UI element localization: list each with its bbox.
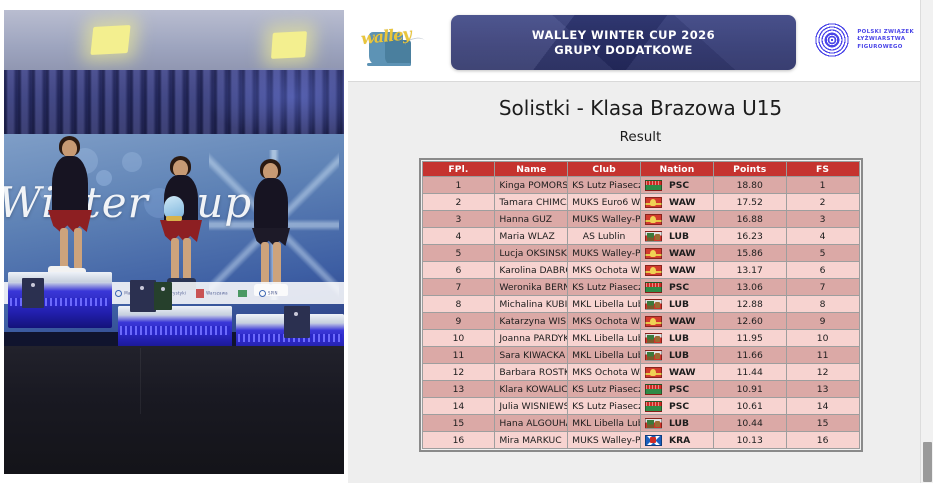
nation-code: LUB — [669, 333, 689, 344]
cell-fs: 3 — [786, 211, 859, 228]
cell-points: 11.44 — [713, 364, 786, 381]
cell-fs: 15 — [786, 415, 859, 432]
nation-code: WAW — [669, 197, 696, 208]
cell-fpl: 10 — [422, 330, 495, 347]
cell-fpl: 13 — [422, 381, 495, 398]
podium-photo: Winter Cup — [4, 10, 344, 474]
cell-club: MUKS Walley-Plus Duo Kraków — [568, 432, 641, 449]
table-row[interactable]: 14Julia WISNIEWSKAKS Lutz PiasecznoPSC10… — [422, 398, 859, 415]
flag-icon-lub — [645, 333, 662, 344]
cell-fpl: 11 — [422, 347, 495, 364]
cell-points: 13.06 — [713, 279, 786, 296]
cell-nation: WAW — [640, 364, 713, 381]
cell-name: Barbara ROSTKOWSKA — [495, 364, 568, 381]
result-subtitle: Result — [348, 129, 933, 145]
cell-nation: LUB — [640, 296, 713, 313]
cell-nation: LUB — [640, 330, 713, 347]
cell-club: MKL Libella Lublin — [568, 330, 641, 347]
cell-fpl: 15 — [422, 415, 495, 432]
cell-fs: 14 — [786, 398, 859, 415]
table-row[interactable]: 1Kinga POMORSKAKS Lutz PiasecznoPSC18.80… — [422, 177, 859, 194]
cell-name: Michalina KUBIC — [495, 296, 568, 313]
results-table-body: 1Kinga POMORSKAKS Lutz PiasecznoPSC18.80… — [422, 177, 859, 449]
podium-photo-panel: Winter Cup — [0, 0, 348, 483]
nation-code: PSC — [669, 401, 689, 412]
table-row[interactable]: 5Lucja OKSINSKAMUKS Walley-Plus Duo Wars… — [422, 245, 859, 262]
nation-cell: WAW — [645, 248, 709, 259]
table-row[interactable]: 8Michalina KUBICMKL Libella LublinLUB12.… — [422, 296, 859, 313]
flag-icon-psc — [645, 384, 662, 395]
cell-fpl: 1 — [422, 177, 495, 194]
cell-club: MKL Libella Lublin — [568, 296, 641, 313]
column-header-fs[interactable]: FS — [786, 162, 859, 177]
cell-points: 11.95 — [713, 330, 786, 347]
federation-logo-text: POLSKI ZWIĄZEK ŁYŻWIARSTWA FIGUROWEGO — [857, 29, 914, 52]
event-title-banner: WALLEY WINTER CUP 2026 GRUPY DODATKOWE — [451, 15, 796, 70]
cell-fpl: 5 — [422, 245, 495, 262]
scrollbar-thumb[interactable] — [923, 442, 932, 482]
nation-cell: PSC — [645, 384, 709, 395]
cell-fs: 9 — [786, 313, 859, 330]
cell-fs: 8 — [786, 296, 859, 313]
flag-icon-waw — [645, 265, 662, 276]
nation-cell: LUB — [645, 418, 709, 429]
nation-cell: WAW — [645, 214, 709, 225]
table-row[interactable]: 10Joanna PARDYKAMKL Libella LublinLUB11.… — [422, 330, 859, 347]
flag-icon-waw — [645, 214, 662, 225]
cell-fpl: 6 — [422, 262, 495, 279]
cell-club: MKL Libella Lublin — [568, 347, 641, 364]
cell-name: Lucja OKSINSKA — [495, 245, 568, 262]
nation-code: LUB — [669, 231, 689, 242]
nation-code: WAW — [669, 265, 696, 276]
cell-points: 10.13 — [713, 432, 786, 449]
cell-name: Klara KOWALICKA — [495, 381, 568, 398]
cell-nation: WAW — [640, 245, 713, 262]
gift-bag — [154, 282, 172, 310]
sponsor-logo-spin: SPIN — [259, 290, 278, 297]
nation-code: WAW — [669, 248, 696, 259]
cell-points: 16.88 — [713, 211, 786, 228]
cell-points: 16.23 — [713, 228, 786, 245]
cell-name: Mira MARKUC — [495, 432, 568, 449]
cell-fs: 4 — [786, 228, 859, 245]
nation-cell: LUB — [645, 333, 709, 344]
cell-nation: WAW — [640, 313, 713, 330]
federation-line-2: ŁYŻWIARSTWA — [857, 36, 914, 44]
nation-cell: LUB — [645, 299, 709, 310]
nation-cell: LUB — [645, 350, 709, 361]
nation-cell: WAW — [645, 316, 709, 327]
cell-name: Joanna PARDYKA — [495, 330, 568, 347]
app-root: Winter Cup — [0, 0, 933, 483]
cell-points: 10.91 — [713, 381, 786, 398]
column-header-club[interactable]: Club — [568, 162, 641, 177]
table-row[interactable]: 16Mira MARKUCMUKS Walley-Plus Duo Kraków… — [422, 432, 859, 449]
cell-nation: WAW — [640, 211, 713, 228]
cell-nation: PSC — [640, 381, 713, 398]
cell-fs: 7 — [786, 279, 859, 296]
cell-club: MKS Ochota Warszawa — [568, 364, 641, 381]
cell-club: MUKS Walley-Plus Duo Warszawa — [568, 211, 641, 228]
cell-club: KS Lutz Piaseczno — [568, 177, 641, 194]
flag-icon-waw — [645, 367, 662, 378]
cell-fpl: 4 — [422, 228, 495, 245]
page-scrollbar[interactable] — [920, 0, 933, 483]
table-row[interactable]: 6Karolina DABROWSKAMKS Ochota WarszawaWA… — [422, 262, 859, 279]
fingerprint-icon — [814, 22, 850, 58]
cell-club: MUKS Euro6 Warszawa — [568, 194, 641, 211]
cell-points: 12.60 — [713, 313, 786, 330]
flag-icon-lub — [645, 231, 662, 242]
cell-club: MKS Ochota Warszawa — [568, 262, 641, 279]
cell-club: MUKS Walley-Plus Duo Warszawa — [568, 245, 641, 262]
floor-seam — [140, 348, 141, 414]
column-header-points[interactable]: Points — [713, 162, 786, 177]
curtain-highlight — [204, 68, 344, 140]
cell-name: Sara KIWACKA — [495, 347, 568, 364]
nation-code: LUB — [669, 299, 689, 310]
cell-name: Karolina DABROWSKA — [495, 262, 568, 279]
cell-fpl: 12 — [422, 364, 495, 381]
cell-fpl: 14 — [422, 398, 495, 415]
cell-points: 11.66 — [713, 347, 786, 364]
backdrop-bokeh — [122, 152, 142, 172]
table-row[interactable]: 4Maria WLAZAS LublinLUB16.234 — [422, 228, 859, 245]
column-header-fpl[interactable]: FPl. — [422, 162, 495, 177]
table-row[interactable]: 11Sara KIWACKAMKL Libella LublinLUB11.66… — [422, 347, 859, 364]
skate-blade-icon — [367, 63, 411, 66]
table-row[interactable]: 7Weronika BERNACIAKKS Lutz PiasecznoPSC1… — [422, 279, 859, 296]
cell-points: 15.86 — [713, 245, 786, 262]
gift-bag — [22, 278, 44, 308]
table-header-row: FPl. Name Club Nation Points FS — [422, 162, 859, 177]
nation-code: PSC — [669, 282, 689, 293]
ceiling-lamp-right — [271, 31, 307, 59]
cell-name: Katarzyna WISNIEWSKA — [495, 313, 568, 330]
nation-code: LUB — [669, 350, 689, 361]
cell-name: Weronika BERNACIAK — [495, 279, 568, 296]
cell-nation: LUB — [640, 415, 713, 432]
flag-icon-waw — [645, 316, 662, 327]
gift-bag — [284, 306, 310, 338]
cell-fs: 11 — [786, 347, 859, 364]
page-header: walley WALLEY WINTER CUP 2026 GRUPY DODA… — [348, 0, 933, 82]
cell-nation: WAW — [640, 194, 713, 211]
cell-nation: LUB — [640, 347, 713, 364]
cell-points: 10.61 — [713, 398, 786, 415]
results-body: Solistki - Klasa Brazowa U15 Result FPl.… — [348, 82, 933, 483]
flag-icon-lub — [645, 350, 662, 361]
nation-cell: WAW — [645, 265, 709, 276]
cell-fs: 6 — [786, 262, 859, 279]
results-content: walley WALLEY WINTER CUP 2026 GRUPY DODA… — [348, 0, 933, 483]
federation-logo[interactable]: POLSKI ZWIĄZEK ŁYŻWIARSTWA FIGUROWEGO — [814, 22, 914, 58]
cell-fs: 10 — [786, 330, 859, 347]
nation-cell: LUB — [645, 231, 709, 242]
cell-name: Julia WISNIEWSKA — [495, 398, 568, 415]
table-row[interactable]: 2Tamara CHIMCZUKMUKS Euro6 WarszawaWAW17… — [422, 194, 859, 211]
cell-points: 13.17 — [713, 262, 786, 279]
sponsor-logo-green — [238, 290, 249, 297]
table-row[interactable]: 9Katarzyna WISNIEWSKAMKS Ochota Warszawa… — [422, 313, 859, 330]
nation-code: PSC — [669, 384, 689, 395]
nation-code: LUB — [669, 418, 689, 429]
cell-fs: 13 — [786, 381, 859, 398]
podium-led-center — [120, 326, 230, 335]
cell-fpl: 3 — [422, 211, 495, 228]
cell-club: KS Lutz Piaseczno — [568, 398, 641, 415]
table-row[interactable]: 15Hana ALGOUHARIMKL Libella LublinLUB10.… — [422, 415, 859, 432]
gift-bag — [130, 280, 156, 312]
nation-cell: KRA — [645, 435, 709, 446]
cell-fs: 12 — [786, 364, 859, 381]
cell-club: AS Lublin — [568, 228, 641, 245]
cell-points: 12.88 — [713, 296, 786, 313]
table-row[interactable]: 3Hanna GUZMUKS Walley-Plus Duo WarszawaW… — [422, 211, 859, 228]
event-title-line-1: WALLEY WINTER CUP 2026 — [532, 28, 715, 43]
table-row[interactable]: 12Barbara ROSTKOWSKAMKS Ochota WarszawaW… — [422, 364, 859, 381]
cell-fpl: 2 — [422, 194, 495, 211]
backdrop-wordmark: Winter Cup — [4, 178, 252, 227]
cell-name: Tamara CHIMCZUK — [495, 194, 568, 211]
flag-icon-lub — [645, 418, 662, 429]
cell-points: 18.80 — [713, 177, 786, 194]
arena-floor — [4, 346, 344, 474]
results-table-head: FPl. Name Club Nation Points FS — [422, 162, 859, 177]
nation-cell: WAW — [645, 197, 709, 208]
nation-cell: WAW — [645, 367, 709, 378]
event-title-line-2: GRUPY DODATKOWE — [554, 43, 693, 58]
column-header-nation[interactable]: Nation — [640, 162, 713, 177]
table-row[interactable]: 13Klara KOWALICKAKS Lutz PiasecznoPSC10.… — [422, 381, 859, 398]
cell-name: Kinga POMORSKA — [495, 177, 568, 194]
cell-name: Maria WLAZ — [495, 228, 568, 245]
cell-points: 10.44 — [713, 415, 786, 432]
cell-fs: 1 — [786, 177, 859, 194]
flag-icon-psc — [645, 180, 662, 191]
nation-code: WAW — [669, 214, 696, 225]
nation-code: WAW — [669, 316, 696, 327]
cell-fs: 5 — [786, 245, 859, 262]
flag-icon-psc — [645, 401, 662, 412]
category-title: Solistki - Klasa Brazowa U15 — [348, 96, 933, 120]
cell-fs: 2 — [786, 194, 859, 211]
cell-club: MKS Ochota Warszawa — [568, 313, 641, 330]
cell-nation: PSC — [640, 398, 713, 415]
cell-name: Hana ALGOUHARI — [495, 415, 568, 432]
walley-logo[interactable]: walley — [361, 16, 423, 68]
nation-cell: PSC — [645, 401, 709, 412]
flag-icon-kra — [645, 435, 662, 446]
nation-cell: PSC — [645, 180, 709, 191]
cell-fpl: 7 — [422, 279, 495, 296]
cell-nation: PSC — [640, 279, 713, 296]
cell-points: 17.52 — [713, 194, 786, 211]
flag-icon-lub — [645, 299, 662, 310]
ceiling-lamp-left — [90, 25, 130, 55]
flag-icon-psc — [645, 282, 662, 293]
nation-code: PSC — [669, 180, 689, 191]
nation-code: KRA — [669, 435, 690, 446]
cell-fpl: 16 — [422, 432, 495, 449]
cell-nation: PSC — [640, 177, 713, 194]
nation-cell: PSC — [645, 282, 709, 293]
cell-name: Hanna GUZ — [495, 211, 568, 228]
cell-club: KS Lutz Piaseczno — [568, 279, 641, 296]
nation-code: WAW — [669, 367, 696, 378]
flag-icon-waw — [645, 248, 662, 259]
column-header-name[interactable]: Name — [495, 162, 568, 177]
sponsor-logo-warszawa: Warszawa — [196, 289, 228, 298]
cell-fpl: 8 — [422, 296, 495, 313]
results-table-container: FPl. Name Club Nation Points FS 1Kinga P… — [419, 158, 863, 452]
cell-club: MKL Libella Lublin — [568, 415, 641, 432]
cell-nation: WAW — [640, 262, 713, 279]
cell-club: KS Lutz Piaseczno — [568, 381, 641, 398]
cell-nation: LUB — [640, 228, 713, 245]
flag-icon-waw — [645, 197, 662, 208]
cell-fs: 16 — [786, 432, 859, 449]
results-table: FPl. Name Club Nation Points FS 1Kinga P… — [422, 161, 860, 449]
cell-fpl: 9 — [422, 313, 495, 330]
federation-line-3: FIGUROWEGO — [857, 44, 914, 52]
cell-nation: KRA — [640, 432, 713, 449]
